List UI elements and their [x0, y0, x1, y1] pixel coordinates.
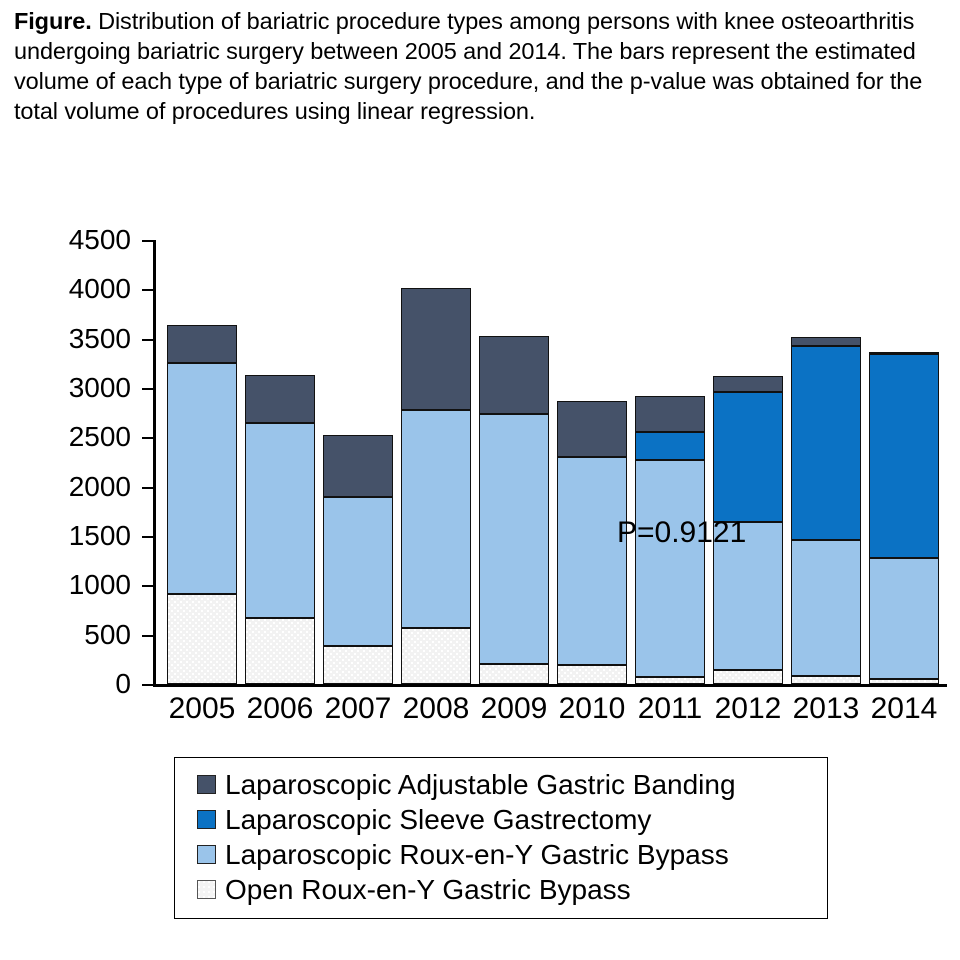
bar-segment-band: [713, 376, 783, 392]
bar-segment-obypass: [245, 618, 315, 684]
bar-segment-band: [635, 396, 705, 433]
y-axis-line: [153, 240, 156, 684]
legend-item-band[interactable]: Laparoscopic Adjustable Gastric Banding: [175, 767, 827, 802]
x-axis-label-2011: 2011: [628, 692, 712, 726]
y-tick-mark: [142, 339, 153, 341]
bar-segment-band: [167, 325, 237, 363]
legend-swatch-icon: [197, 775, 216, 794]
x-axis-label-2013: 2013: [784, 692, 868, 726]
bar-segment-obypass: [635, 677, 705, 684]
bar-segment-lbypass: [401, 410, 471, 628]
chart-container: Annual Procedure Volume 4500 4000 3500 3…: [0, 218, 960, 718]
y-axis-label: 2500: [69, 423, 131, 451]
legend-swatch-icon: [197, 810, 216, 829]
bar-segment-obypass: [869, 679, 939, 684]
bar-segment-band: [791, 337, 861, 345]
bar-segment-sleeve: [635, 432, 705, 459]
bar-segment-sleeve: [713, 392, 783, 521]
x-axis-label-2009: 2009: [472, 692, 556, 726]
y-axis-label: 3000: [69, 374, 131, 402]
y-tick-mark: [142, 240, 153, 242]
bar-segment-sleeve: [791, 346, 861, 541]
bar-segment-sleeve: [869, 354, 939, 557]
legend-item-label: Laparoscopic Sleeve Gastrectomy: [225, 803, 651, 836]
legend-item-lap-bypass[interactable]: Laparoscopic Roux-en-Y Gastric Bypass: [175, 837, 827, 872]
bar-segment-obypass: [557, 665, 627, 684]
y-axis-label: 4500: [69, 226, 131, 254]
y-tick-mark: [142, 684, 153, 686]
legend-swatch-icon: [197, 845, 216, 864]
y-tick-mark: [142, 487, 153, 489]
bar-segment-band: [479, 336, 549, 414]
y-axis-label: 4000: [69, 275, 131, 303]
bar-segment-band: [557, 401, 627, 457]
y-axis-label: 1000: [69, 571, 131, 599]
chart-legend: Laparoscopic Adjustable Gastric Banding …: [174, 757, 828, 919]
x-axis-label-2006: 2006: [238, 692, 322, 726]
y-axis-label: 0: [115, 670, 131, 698]
legend-swatch-icon: [197, 880, 216, 899]
figure-caption-lead: Figure.: [14, 8, 92, 34]
bar-segment-obypass: [713, 670, 783, 684]
legend-item-label: Laparoscopic Roux-en-Y Gastric Bypass: [225, 838, 729, 871]
bar-segment-obypass: [323, 646, 393, 684]
bar-segment-lbypass: [635, 460, 705, 678]
x-axis-label-2005: 2005: [160, 692, 244, 726]
legend-item-sleeve[interactable]: Laparoscopic Sleeve Gastrectomy: [175, 802, 827, 837]
x-axis-label-2014: 2014: [862, 692, 946, 726]
x-axis-line: [153, 684, 947, 687]
y-tick-mark: [142, 585, 153, 587]
bar-segment-band: [323, 435, 393, 497]
y-axis-label: 500: [84, 621, 131, 649]
bar-segment-obypass: [167, 594, 237, 684]
bar-segment-lbypass: [323, 497, 393, 646]
bar-segment-obypass: [401, 628, 471, 684]
bar-segment-lbypass: [245, 423, 315, 619]
bar-segment-obypass: [791, 676, 861, 684]
legend-item-label: Laparoscopic Adjustable Gastric Banding: [225, 768, 736, 801]
bar-segment-lbypass: [479, 414, 549, 664]
x-axis-label-2008: 2008: [394, 692, 478, 726]
bar-segment-band: [401, 288, 471, 409]
y-tick-mark: [142, 289, 153, 291]
figure-caption-text: Distribution of bariatric procedure type…: [14, 8, 922, 124]
y-axis-label: 3500: [69, 325, 131, 353]
bar-segment-band: [245, 375, 315, 423]
y-axis-label: 1500: [69, 522, 131, 550]
y-tick-mark: [142, 437, 153, 439]
plot-area: 4500 4000 3500 3000 2500 2000 1500 1000 …: [153, 240, 947, 684]
bar-segment-lbypass: [557, 457, 627, 666]
y-tick-mark: [142, 635, 153, 637]
bar-segment-lbypass: [167, 363, 237, 593]
bar-segment-lbypass: [869, 558, 939, 679]
p-value-annotation: P=0.9121: [617, 516, 746, 550]
x-axis-label-2012: 2012: [706, 692, 790, 726]
x-axis-label-2010: 2010: [550, 692, 634, 726]
bar-segment-lbypass: [791, 540, 861, 675]
y-axis-label: 2000: [69, 473, 131, 501]
y-tick-mark: [142, 536, 153, 538]
bar-segment-obypass: [479, 664, 549, 684]
figure-caption: Figure. Distribution of bariatric proced…: [14, 6, 946, 126]
legend-item-label: Open Roux-en-Y Gastric Bypass: [225, 873, 631, 906]
bar-segment-band: [869, 352, 939, 354]
legend-item-open-bypass[interactable]: Open Roux-en-Y Gastric Bypass: [175, 872, 827, 907]
x-axis-label-2007: 2007: [316, 692, 400, 726]
y-tick-mark: [142, 388, 153, 390]
